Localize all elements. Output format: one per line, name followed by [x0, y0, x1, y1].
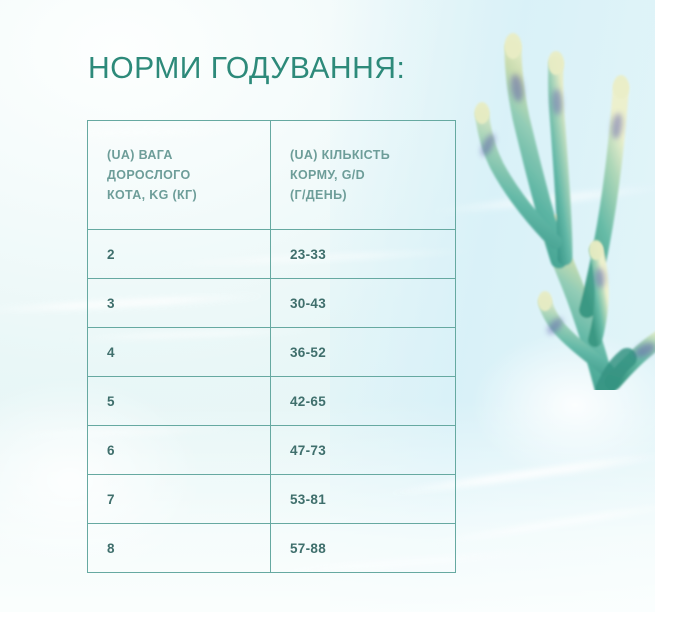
- cell-amount: 57-88: [271, 524, 456, 573]
- feeding-norms-table: (UA) ВАГА ДОРОСЛОГО КОТА, KG (КГ) (UA) К…: [87, 120, 456, 573]
- canvas-edge-right: [655, 0, 680, 630]
- header-line: (Г/ДЕНЬ): [290, 185, 455, 205]
- header-cell-amount: (UA) КІЛЬКІСТЬ КОРМУ, G/D (Г/ДЕНЬ): [271, 121, 456, 230]
- header-line: (UA) ВАГА: [107, 145, 270, 165]
- header-line: (UA) КІЛЬКІСТЬ: [290, 145, 455, 165]
- header-cell-weight: (UA) ВАГА ДОРОСЛОГО КОТА, KG (КГ): [88, 121, 271, 230]
- cell-amount: 42-65: [271, 377, 456, 426]
- header-line: КОРМУ, G/D: [290, 165, 455, 185]
- table-row: 7 53-81: [88, 475, 456, 524]
- water-glow: [470, 330, 680, 480]
- table-row: 5 42-65: [88, 377, 456, 426]
- canvas-edge-bottom: [0, 612, 680, 630]
- cell-amount: 23-33: [271, 230, 456, 279]
- cell-amount: 53-81: [271, 475, 456, 524]
- page-title: НОРМИ ГОДУВАННЯ:: [88, 50, 405, 86]
- header-line: КОТА, KG (КГ): [107, 185, 270, 205]
- table-row: 4 36-52: [88, 328, 456, 377]
- cell-weight: 6: [88, 426, 271, 475]
- table-row: 6 47-73: [88, 426, 456, 475]
- cell-weight: 5: [88, 377, 271, 426]
- cell-amount: 47-73: [271, 426, 456, 475]
- table-row: 3 30-43: [88, 279, 456, 328]
- table-header-row: (UA) ВАГА ДОРОСЛОГО КОТА, KG (КГ) (UA) К…: [88, 121, 456, 230]
- header-line: ДОРОСЛОГО: [107, 165, 270, 185]
- cell-weight: 4: [88, 328, 271, 377]
- cell-weight: 8: [88, 524, 271, 573]
- feeding-guide-poster: НОРМИ ГОДУВАННЯ: (UA) ВАГА ДОРОСЛОГО КОТ…: [0, 0, 680, 630]
- cell-amount: 36-52: [271, 328, 456, 377]
- table-row: 2 23-33: [88, 230, 456, 279]
- cell-weight: 2: [88, 230, 271, 279]
- cell-amount: 30-43: [271, 279, 456, 328]
- cell-weight: 7: [88, 475, 271, 524]
- table-row: 8 57-88: [88, 524, 456, 573]
- cell-weight: 3: [88, 279, 271, 328]
